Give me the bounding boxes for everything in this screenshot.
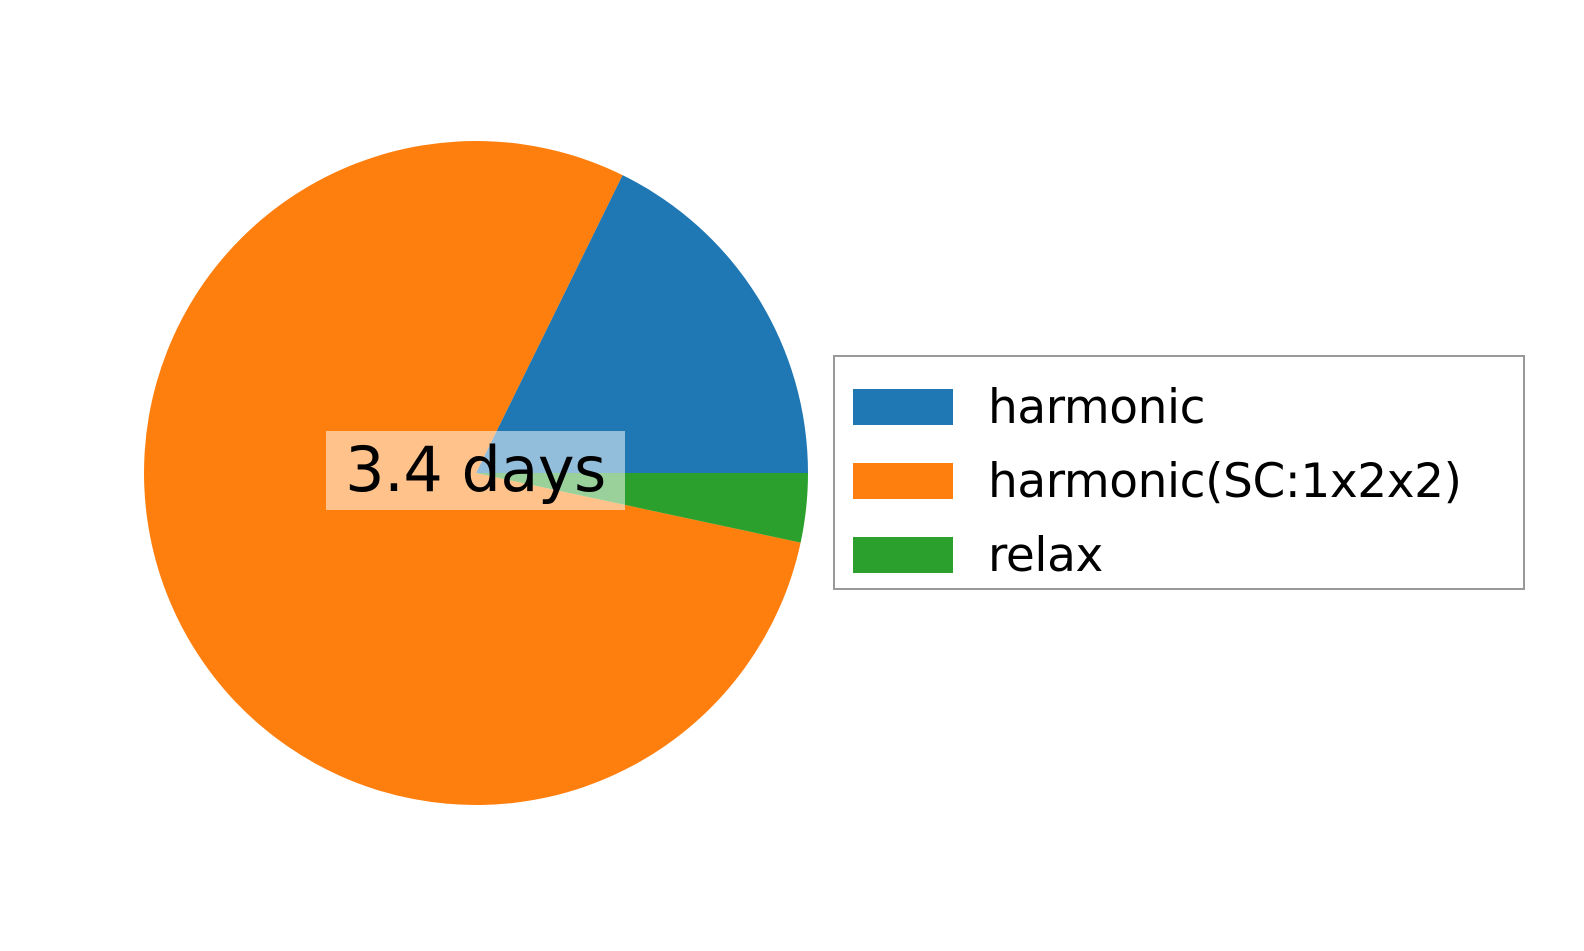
pie-center-label-text: 3.4 days [345,439,606,501]
legend-item-harmonic-sc[interactable]: harmonic(SC:1x2x2) [853,444,1523,518]
pie-center-label: 3.4 days [326,431,625,510]
legend-swatch-harmonic [853,389,953,425]
legend-item-harmonic[interactable]: harmonic [853,370,1523,444]
legend-label-harmonic: harmonic [988,384,1205,431]
legend-item-list: harmonic harmonic(SC:1x2x2) relax [853,370,1523,588]
legend-label-relax: relax [988,532,1103,579]
legend-box: harmonic harmonic(SC:1x2x2) relax [833,355,1525,590]
legend-label-harmonic-sc: harmonic(SC:1x2x2) [988,458,1462,505]
legend-swatch-relax [853,537,953,573]
legend-item-relax[interactable]: relax [853,518,1523,592]
chart-canvas: 3.4 days harmonic harmonic(SC:1x2x2) rel… [0,0,1584,951]
legend-swatch-harmonic-sc [853,463,953,499]
